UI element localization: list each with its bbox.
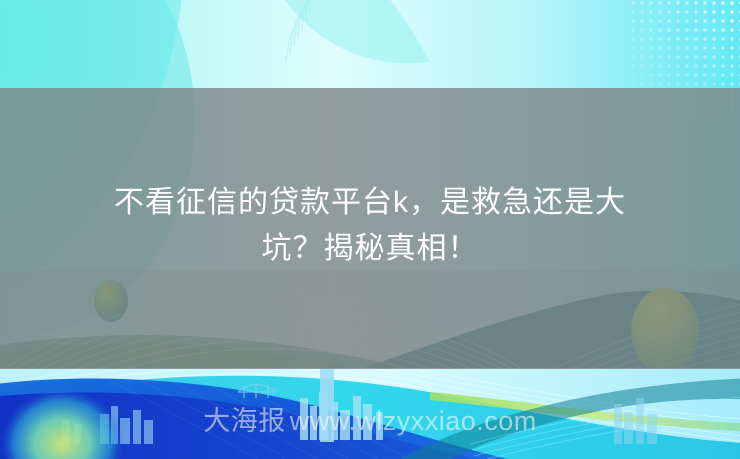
green-sphere-right <box>631 288 699 374</box>
poster-canvas: 不看征信的贷款平台k，是救急还是大 坑？揭秘真相！ 大海报www.wlzyxxi… <box>0 0 740 459</box>
halftone-dot-grid <box>630 0 740 120</box>
title-line-1: 不看征信的贷款平台k，是救急还是大 <box>34 180 706 226</box>
green-sphere-left <box>94 280 128 322</box>
watermark-url: www.wlzyxxiao.com <box>290 406 537 436</box>
watermark: 大海报www.wlzyxxiao.com <box>0 404 740 438</box>
watermark-brand: 大海报 <box>203 406 286 436</box>
poster-title: 不看征信的贷款平台k，是救急还是大 坑？揭秘真相！ <box>0 180 740 272</box>
title-line-2: 坑？揭秘真相！ <box>34 226 706 272</box>
